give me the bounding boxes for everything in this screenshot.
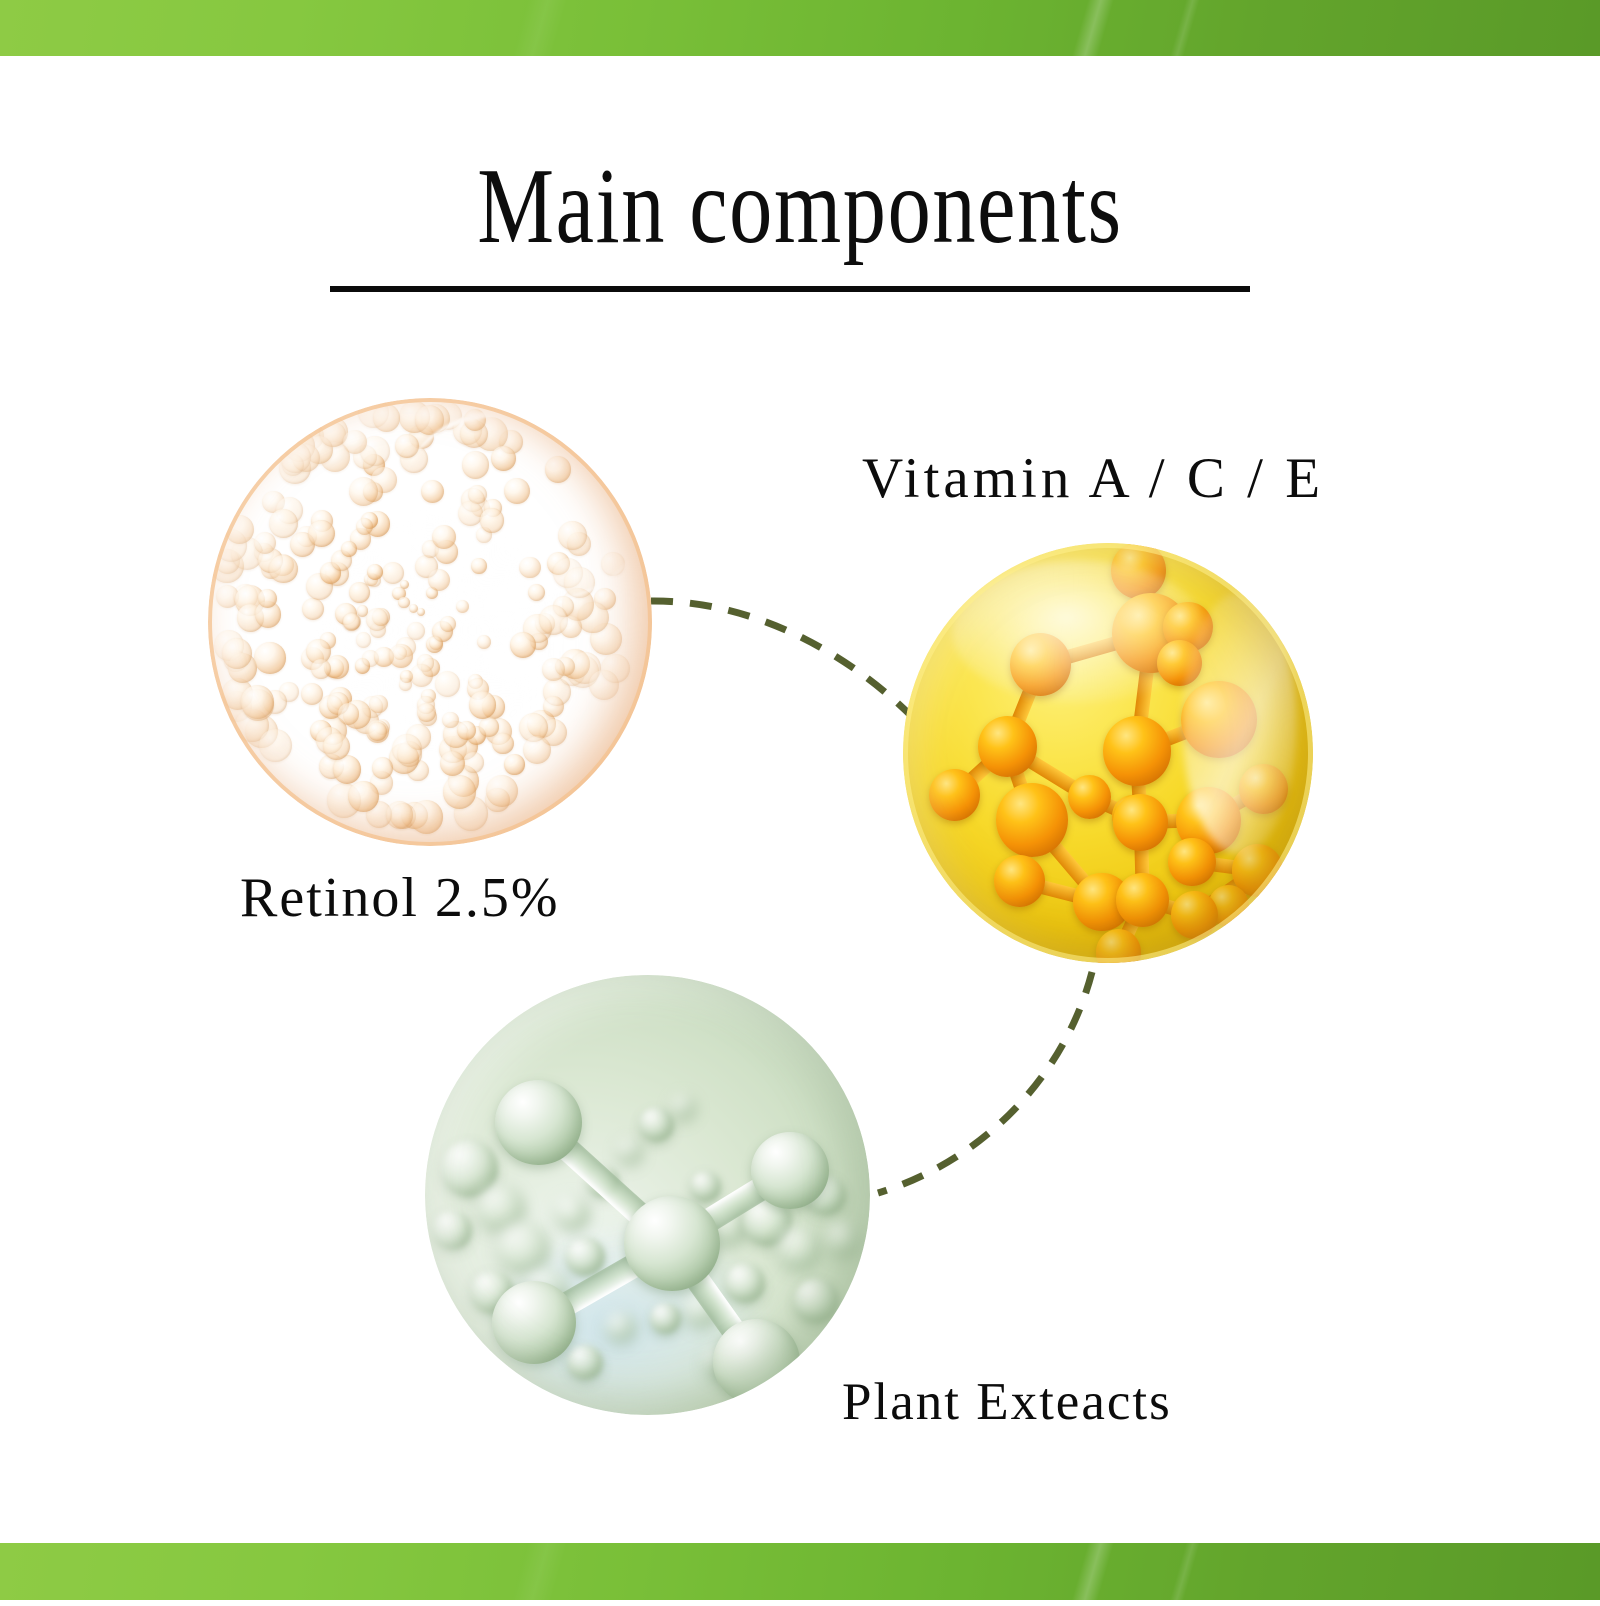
connector-vitamin-to-plant (878, 972, 1092, 1193)
vitamin-sphere (903, 543, 1313, 963)
retinol-sphere (208, 398, 652, 846)
band-gradient-fill (0, 1543, 1600, 1600)
infographic-canvas: Main components Vitamin A / C / E Retino… (0, 0, 1600, 1600)
band-gradient-fill (0, 0, 1600, 56)
label-plant-extracts: Plant Exteacts (842, 1372, 1172, 1432)
vitamin-rim-shading (903, 543, 1313, 963)
title-underline (330, 286, 1250, 292)
retinol-rim-shading (208, 398, 652, 846)
title-block: Main components (0, 150, 1600, 263)
plant-sphere (425, 975, 870, 1415)
connector-retinol-to-vitamin (651, 601, 925, 730)
bottom-green-band (0, 1543, 1600, 1600)
top-green-band (0, 0, 1600, 56)
plant-rim-shading (425, 975, 870, 1415)
label-retinol: Retinol 2.5% (240, 866, 560, 930)
page-title: Main components (160, 150, 1440, 263)
label-vitamin-ace: Vitamin A / C / E (862, 446, 1324, 511)
